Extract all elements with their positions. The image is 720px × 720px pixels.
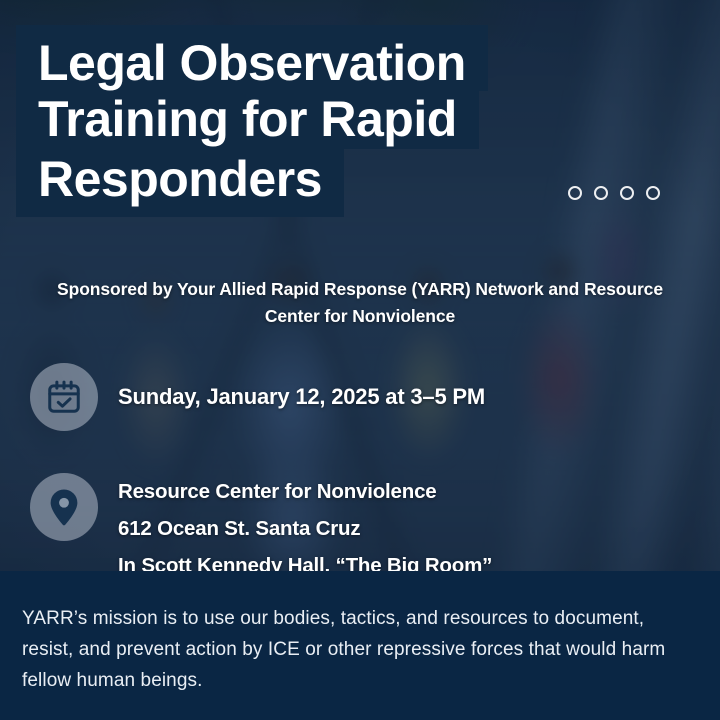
location-line-2: 612 Ocean St. Santa Cruz: [118, 510, 492, 547]
event-date-row: Sunday, January 12, 2025 at 3–5 PM: [30, 363, 485, 431]
mission-band: YARR’s mission is to use our bodies, tac…: [0, 571, 720, 720]
dot-icon: [568, 186, 582, 200]
mission-text: YARR’s mission is to use our bodies, tac…: [22, 603, 698, 696]
event-location-text: Resource Center for Nonviolence 612 Ocea…: [118, 473, 492, 584]
title-line-2: Training for Rapid: [16, 91, 479, 149]
decorative-dots: [568, 186, 660, 200]
dot-icon: [594, 186, 608, 200]
title-line-1: Legal Observation: [16, 25, 488, 91]
page-title: Legal Observation Training for Rapid Res…: [16, 25, 616, 217]
event-location-row: Resource Center for Nonviolence 612 Ocea…: [30, 473, 492, 584]
location-line-1: Resource Center for Nonviolence: [118, 473, 492, 510]
sponsor-text: Sponsored by Your Allied Rapid Response …: [36, 276, 684, 330]
calendar-check-icon: [30, 363, 98, 431]
event-flyer: Legal Observation Training for Rapid Res…: [0, 0, 720, 720]
title-line-3: Responders: [16, 149, 344, 217]
event-date-text: Sunday, January 12, 2025 at 3–5 PM: [118, 363, 485, 431]
dot-icon: [620, 186, 634, 200]
map-pin-icon: [30, 473, 98, 541]
dot-icon: [646, 186, 660, 200]
